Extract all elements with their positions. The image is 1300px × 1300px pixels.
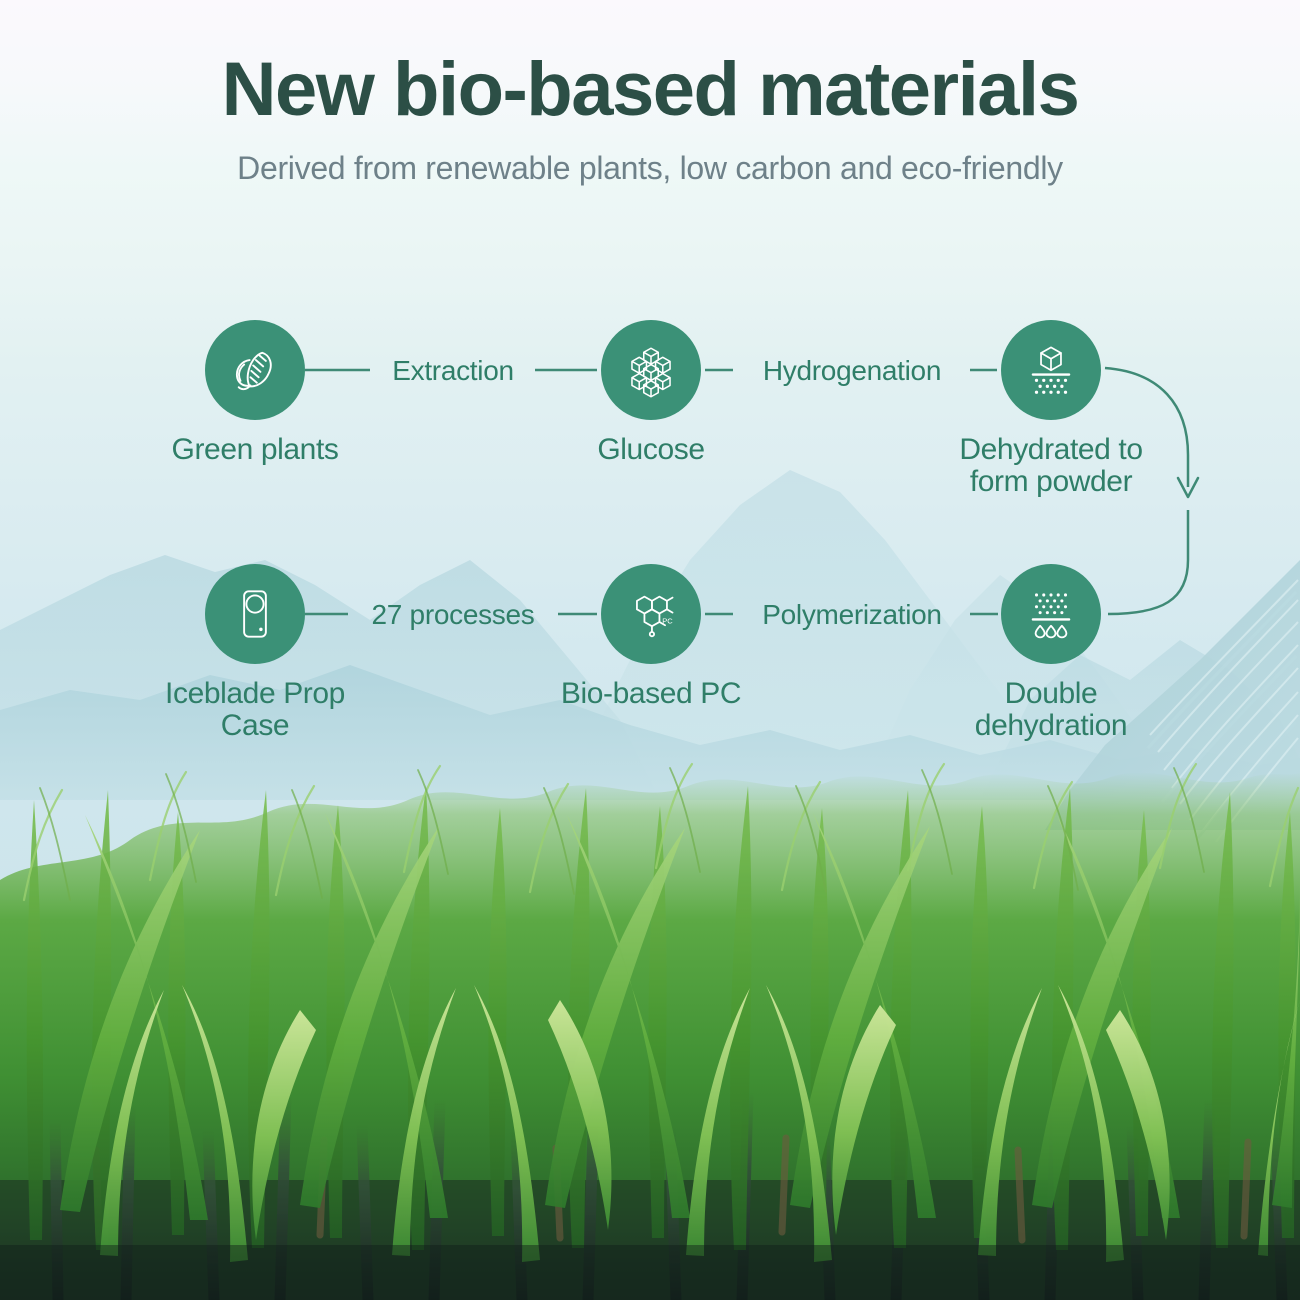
connector-label-processes: 27 processes	[348, 599, 558, 631]
double-dehydration-icon-circle[interactable]	[1001, 564, 1101, 664]
flow-node-label: Glucose	[536, 434, 766, 466]
flow-node-prop-case[interactable]: Iceblade Prop Case	[140, 564, 370, 742]
flow-node-label: Double dehydration	[936, 678, 1166, 742]
page-title: New bio-based materials	[0, 52, 1300, 128]
phone-case-icon	[226, 585, 284, 643]
powder-droplets-icon	[1022, 585, 1080, 643]
sugar-cubes-icon	[622, 341, 680, 399]
molecule-pc-icon: PC	[621, 584, 681, 644]
connector-label-hydrogenation: Hydrogenation	[733, 355, 971, 387]
infographic-canvas: New bio-based materials Derived from ren…	[0, 0, 1300, 1300]
flow-node-bio-pc[interactable]: PC Bio-based PC	[536, 564, 766, 710]
flow-node-double-dehydration[interactable]: Double dehydration	[936, 564, 1166, 742]
powder-icon-circle[interactable]	[1001, 320, 1101, 420]
prop-case-icon-circle[interactable]	[205, 564, 305, 664]
cube-powder-icon	[1022, 341, 1080, 399]
header: New bio-based materials Derived from ren…	[0, 0, 1300, 187]
flow-node-powder[interactable]: Dehydrated to form powder	[936, 320, 1166, 498]
flow-node-green-plants[interactable]: Green plants	[140, 320, 370, 466]
bio-pc-icon-circle[interactable]: PC	[601, 564, 701, 664]
flow-node-label: Bio-based PC	[536, 678, 766, 710]
flow-node-label: Green plants	[140, 434, 370, 466]
green-plants-icon-circle[interactable]	[205, 320, 305, 420]
corn-icon	[226, 341, 284, 399]
page-subtitle: Derived from renewable plants, low carbo…	[0, 150, 1300, 187]
glucose-icon-circle[interactable]	[601, 320, 701, 420]
flow-node-glucose[interactable]: Glucose	[536, 320, 766, 466]
connector-label-polymerization: Polymerization	[733, 599, 971, 631]
flow-node-label: Dehydrated to form powder	[936, 434, 1166, 498]
flow-node-label: Iceblade Prop Case	[140, 678, 370, 742]
pc-label: PC	[662, 616, 673, 625]
connector-label-extraction: Extraction	[370, 355, 536, 387]
